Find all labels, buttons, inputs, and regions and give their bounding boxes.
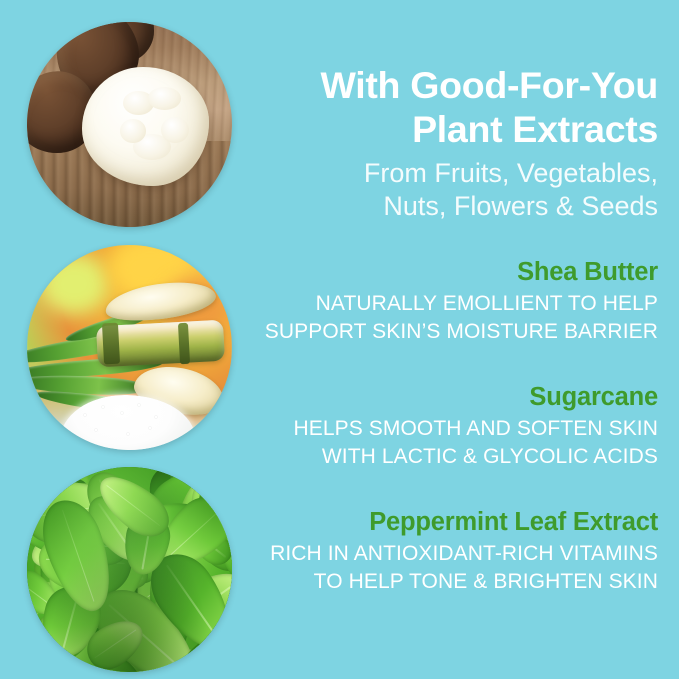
ingredient-name: Sugarcane — [252, 382, 658, 412]
ingredient-description: HELPS SMOOTH AND SOFTEN SKIN WITH LACTIC… — [252, 415, 658, 470]
peppermint-leaves-photo — [27, 467, 232, 672]
ingredient-block-peppermint-leaf-extract: Peppermint Leaf Extract RICH IN ANTIOXID… — [252, 507, 658, 595]
ingredient-description-line-1: RICH IN ANTIOXIDANT-RICH VITAMINS — [252, 540, 658, 568]
shea-butter-paste — [82, 67, 209, 186]
ingredient-block-shea-butter: Shea Butter NATURALLY EMOLLIENT TO HELP … — [252, 257, 658, 345]
background-bokeh — [39, 253, 109, 315]
ingredient-infographic: With Good-For-You Plant Extracts From Fr… — [0, 0, 679, 679]
ingredient-description: RICH IN ANTIOXIDANT-RICH VITAMINS TO HEL… — [252, 540, 658, 595]
ingredient-description-line-1: NATURALLY EMOLLIENT TO HELP — [252, 290, 658, 318]
cane-node — [102, 322, 121, 364]
text-column: With Good-For-You Plant Extracts From Fr… — [252, 0, 658, 679]
ingredient-description-line-2: SUPPORT SKIN’S MOISTURE BARRIER — [252, 318, 658, 346]
page-subtitle: From Fruits, Vegetables, Nuts, Flowers &… — [252, 157, 658, 223]
subheading-line-2: Nuts, Flowers & Seeds — [252, 190, 658, 223]
butter-lump — [161, 117, 189, 143]
ingredient-description-line-2: TO HELP TONE & BRIGHTEN SKIN — [252, 568, 658, 596]
page-title: With Good-For-You Plant Extracts — [258, 63, 658, 151]
butter-lump — [148, 87, 181, 110]
headline-line-2: Plant Extracts — [258, 107, 658, 151]
ingredient-name: Shea Butter — [252, 257, 658, 287]
ingredient-description-line-1: HELPS SMOOTH AND SOFTEN SKIN — [252, 415, 658, 443]
headline-line-1: With Good-For-You — [258, 63, 658, 107]
ingredient-description: NATURALLY EMOLLIENT TO HELP SUPPORT SKIN… — [252, 290, 658, 345]
ingredient-name: Peppermint Leaf Extract — [252, 507, 658, 537]
ingredient-block-sugarcane: Sugarcane HELPS SMOOTH AND SOFTEN SKIN W… — [252, 382, 658, 470]
ingredient-description-line-2: WITH LACTIC & GLYCOLIC ACIDS — [252, 443, 658, 471]
cane-node — [178, 323, 190, 364]
butter-lump — [120, 119, 145, 143]
subheading-line-1: From Fruits, Vegetables, — [252, 157, 658, 190]
sugarcane-photo — [27, 245, 232, 450]
shea-butter-photo — [27, 22, 232, 227]
